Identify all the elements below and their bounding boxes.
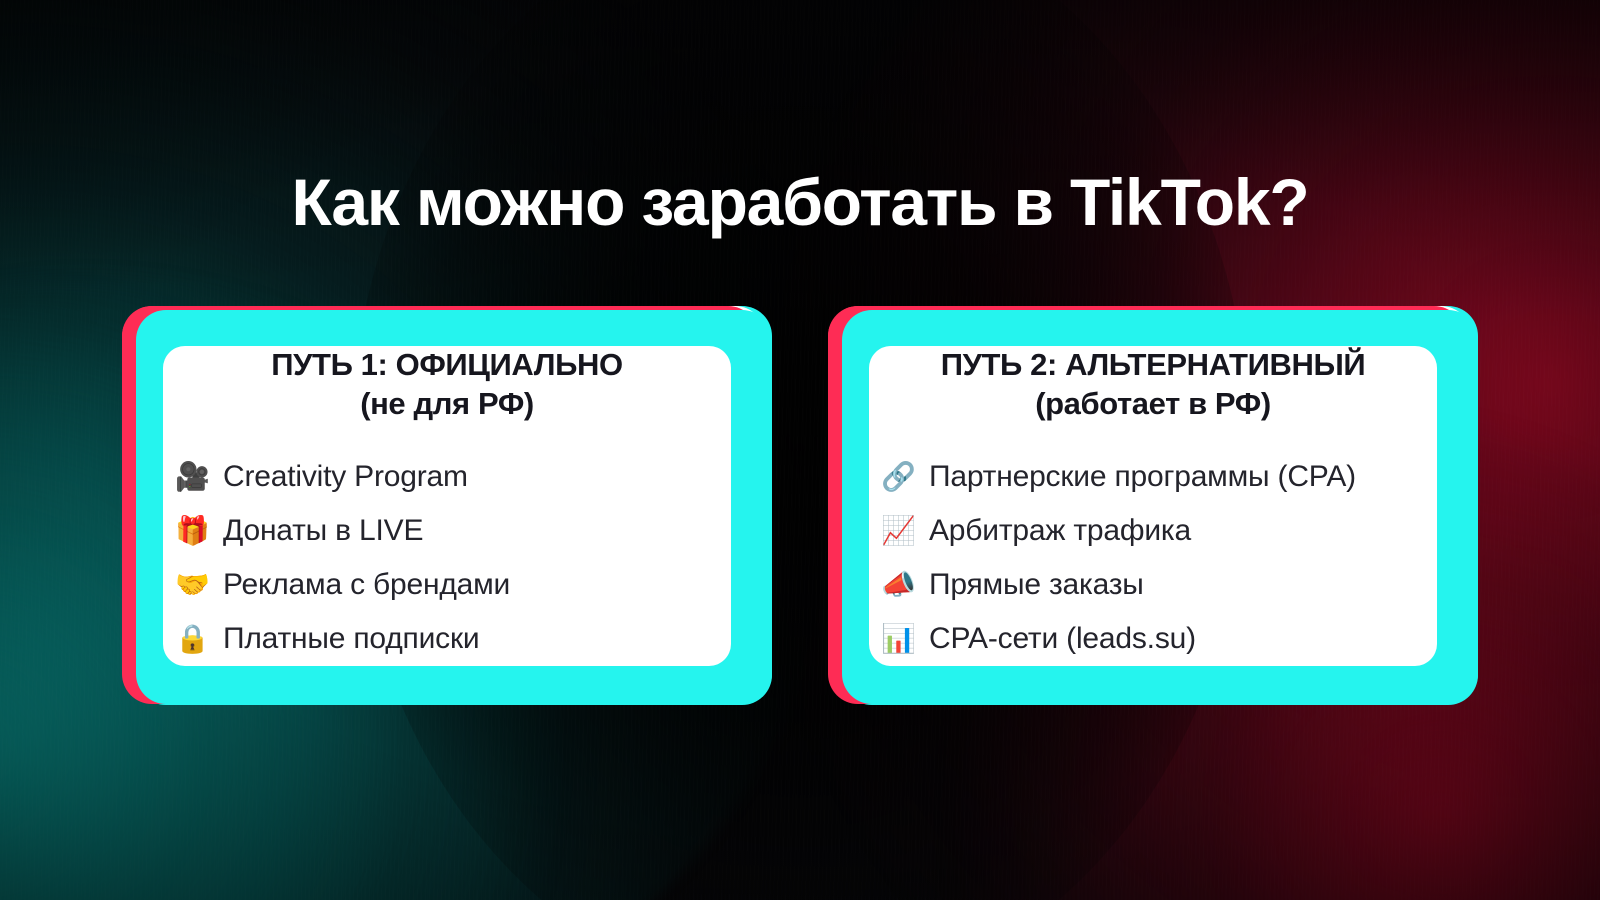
list-item-label: Реклама с брендами	[223, 567, 510, 603]
list-item: 🤝 Реклама с брендами	[175, 558, 731, 612]
card-path-1: ПУТЬ 1: ОФИЦИАЛЬНО (не для РФ) 🎥 Creativ…	[129, 306, 765, 700]
gift-icon: 🎁	[175, 517, 209, 545]
card-path-1-inner: ПУТЬ 1: ОФИЦИАЛЬНО (не для РФ) 🎥 Creativ…	[163, 346, 731, 666]
list-item: 🎁 Донаты в LIVE	[175, 504, 731, 558]
list-item: 🎥 Creativity Program	[175, 450, 731, 504]
handshake-icon: 🤝	[175, 571, 209, 599]
slide-root: Как можно заработать в TikTok? ПУТЬ 1: О…	[0, 0, 1600, 900]
list-item-label: Партнерские программы (CPA)	[929, 459, 1356, 495]
list-item-label: Донаты в LIVE	[223, 513, 423, 549]
slide-content: Как можно заработать в TikTok? ПУТЬ 1: О…	[0, 0, 1600, 900]
list-item: 📣 Прямые заказы	[881, 558, 1437, 612]
list-item: 🔗 Партнерские программы (CPA)	[881, 450, 1437, 504]
lock-icon: 🔒	[175, 625, 209, 653]
card-path-1-list: 🎥 Creativity Program 🎁 Донаты в LIVE 🤝 Р…	[163, 450, 731, 666]
card-path-2-title-main: ПУТЬ 2: АЛЬТЕРНАТИВНЫЙ	[941, 347, 1366, 382]
movie-camera-icon: 🎥	[175, 463, 209, 491]
list-item: 📊 CPA-сети (leads.su)	[881, 612, 1437, 666]
list-item-label: Creativity Program	[223, 459, 468, 495]
cards-container: ПУТЬ 1: ОФИЦИАЛЬНО (не для РФ) 🎥 Creativ…	[129, 306, 1471, 700]
card-path-2-list: 🔗 Партнерские программы (CPA) 📈 Арбитраж…	[869, 450, 1437, 666]
card-path-1-title-main: ПУТЬ 1: ОФИЦИАЛЬНО	[271, 347, 622, 382]
card-path-1-subtitle: (не для РФ)	[163, 385, 731, 424]
chart-increasing-icon: 📈	[881, 517, 915, 545]
list-item: 📈 Арбитраж трафика	[881, 504, 1437, 558]
card-path-2: ПУТЬ 2: АЛЬТЕРНАТИВНЫЙ (работает в РФ) 🔗…	[835, 306, 1471, 700]
card-path-2-inner: ПУТЬ 2: АЛЬТЕРНАТИВНЫЙ (работает в РФ) 🔗…	[869, 346, 1437, 666]
list-item-label: Платные подписки	[223, 621, 479, 657]
megaphone-icon: 📣	[881, 571, 915, 599]
page-title: Как можно заработать в TikTok?	[0, 168, 1600, 238]
list-item: 🔒 Платные подписки	[175, 612, 731, 666]
card-path-1-title: ПУТЬ 1: ОФИЦИАЛЬНО (не для РФ)	[163, 346, 731, 424]
link-chain-icon: 🔗	[881, 463, 915, 491]
list-item-label: Арбитраж трафика	[929, 513, 1191, 549]
list-item-label: CPA-сети (leads.su)	[929, 621, 1196, 657]
card-path-2-subtitle: (работает в РФ)	[869, 385, 1437, 424]
card-path-2-title: ПУТЬ 2: АЛЬТЕРНАТИВНЫЙ (работает в РФ)	[869, 346, 1437, 424]
bar-chart-icon: 📊	[881, 625, 915, 653]
list-item-label: Прямые заказы	[929, 567, 1144, 603]
